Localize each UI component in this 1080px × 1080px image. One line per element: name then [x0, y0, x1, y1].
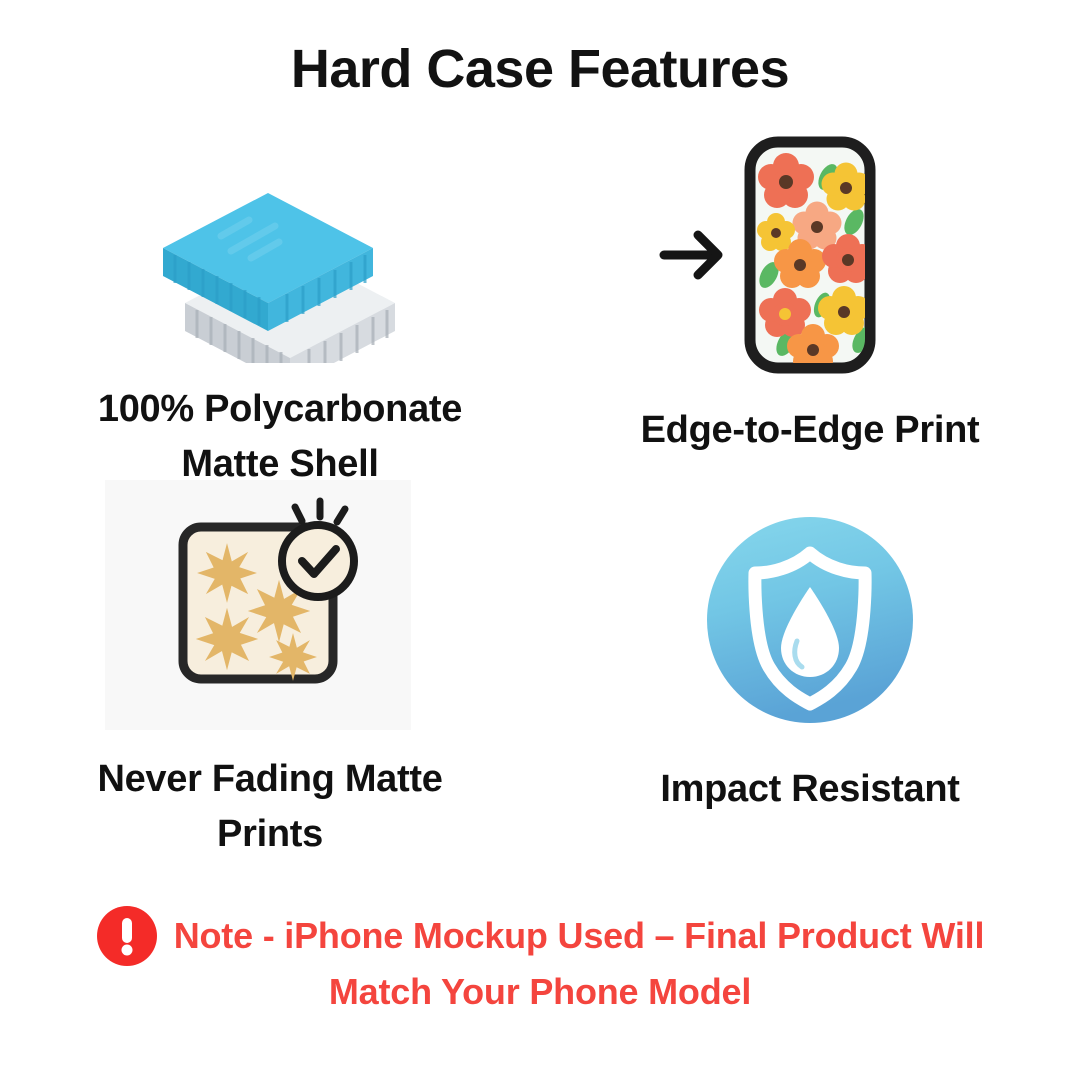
exclamation-circle-icon — [96, 905, 158, 967]
floral-phone-case-icon — [560, 125, 1060, 385]
feature-polycarbonate: 100% Polycarbonate Matte Shell — [30, 155, 530, 492]
shield-droplet-icon — [560, 500, 1060, 740]
note-banner: Note - iPhone Mockup Used – Final Produc… — [0, 905, 1080, 1019]
feature-impact: Impact Resistant — [560, 500, 1060, 817]
page-title: Hard Case Features — [0, 38, 1080, 100]
note-line-1: Note - iPhone Mockup Used – Final Produc… — [96, 905, 985, 967]
arrow-right-icon — [664, 235, 718, 275]
feature-edge-print: Edge-to-Edge Print — [560, 125, 1060, 458]
feature-never-fading-label: Never Fading Matte Prints — [40, 752, 500, 862]
note-text-line-1: Note - iPhone Mockup Used – Final Produc… — [174, 909, 985, 963]
layered-sheet-icon — [30, 155, 530, 370]
sparkle-check-icon — [20, 470, 520, 738]
feature-edge-print-label: Edge-to-Edge Print — [641, 403, 980, 458]
feature-impact-label: Impact Resistant — [660, 762, 959, 817]
note-text-line-2: Match Your Phone Model — [329, 965, 751, 1019]
feature-infographic: Hard Case Features — [0, 0, 1080, 1080]
feature-never-fading: Never Fading Matte Prints — [20, 470, 520, 862]
